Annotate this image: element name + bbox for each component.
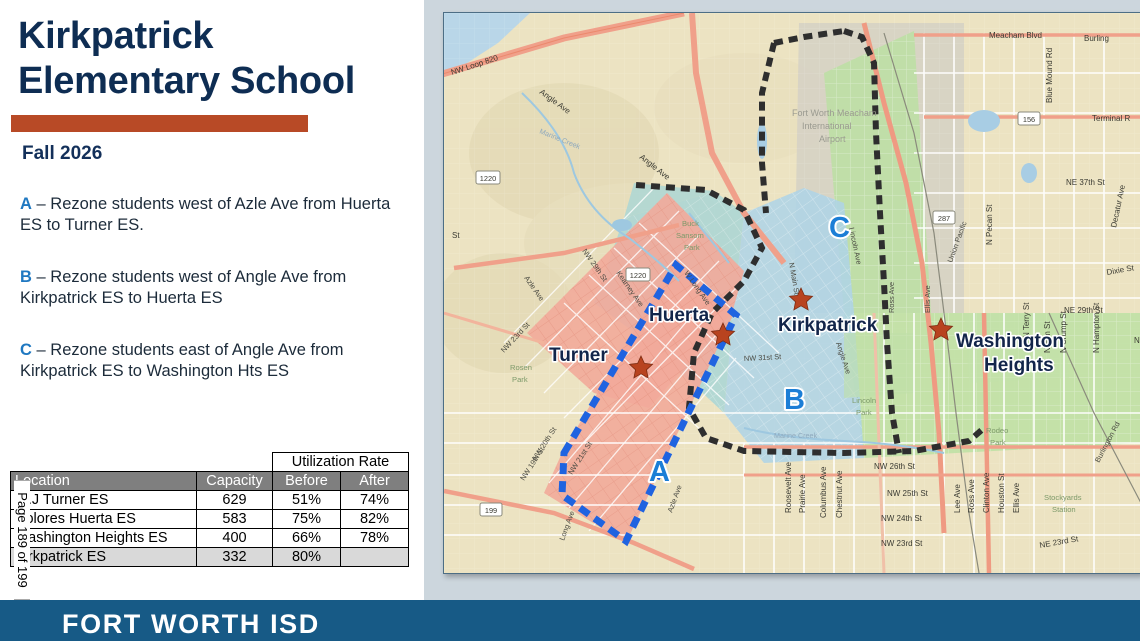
street-label-nw-25th: NW 25th St xyxy=(887,489,929,498)
svg-text:287: 287 xyxy=(938,214,950,223)
street-label-columbus-ave: Columbus Ave xyxy=(819,466,828,518)
school-label-huerta: Huerta xyxy=(649,305,710,326)
place-label-lincoln-park-l1: Lincoln xyxy=(852,396,876,405)
cell-capacity: 332 xyxy=(197,548,273,567)
table-row: W.J Turner ES 629 51% 74% xyxy=(11,491,409,510)
school-label-kirkpatrick: Kirkpatrick xyxy=(778,315,878,336)
bullet-item-a: A – Rezone students west of Azle Ave fro… xyxy=(20,194,408,236)
blank-cell xyxy=(11,453,197,472)
zone-marker-c: C xyxy=(829,212,850,244)
table-group-header-row: Utilization Rate xyxy=(11,453,409,472)
table-row: Dolores Huerta ES 583 75% 82% xyxy=(11,510,409,529)
place-label-rosen-park-l1: Rosen xyxy=(510,363,532,372)
cell-before: 75% xyxy=(273,510,341,529)
column-header-after: After xyxy=(341,472,409,491)
rezoning-map[interactable]: NW Loop 820 Angle Ave Marine Creek Angle… xyxy=(443,12,1140,574)
column-header-before: Before xyxy=(273,472,341,491)
street-label-nw-24th: NW 24th St xyxy=(881,514,923,523)
slide-subtitle: Fall 2026 xyxy=(22,143,102,165)
street-label-chestnut-ave: Chestnut Ave xyxy=(835,470,844,518)
place-label-buck-sansom-l1: Buck xyxy=(682,219,699,228)
utilization-rate-group-header: Utilization Rate xyxy=(273,453,409,472)
cell-before: 66% xyxy=(273,529,341,548)
cell-before: 80% xyxy=(273,548,341,567)
street-label-ross-ave-n: Ross Ave xyxy=(887,282,896,313)
place-label-stockyards-l2: Station xyxy=(1052,505,1076,514)
page-title: Kirkpatrick Elementary School xyxy=(18,14,408,104)
school-label-heights: Heights xyxy=(984,355,1054,376)
bullet-letter-b: B xyxy=(20,268,32,286)
bullet-letter-a: A xyxy=(20,195,32,213)
creek-label-marine-creek-2: Marine Creek xyxy=(774,431,818,440)
street-label-ellis-ave: Ellis Ave xyxy=(1012,482,1021,513)
map-layers: NW Loop 820 Angle Ave Marine Creek Angle… xyxy=(444,13,1140,573)
street-label-houston-st: Houston St xyxy=(997,473,1006,513)
school-label-washington: Washington xyxy=(956,331,1064,352)
street-label-burlington: Burling xyxy=(1084,34,1109,43)
pond xyxy=(1021,163,1037,183)
cell-after: 82% xyxy=(341,510,409,529)
cell-after xyxy=(341,548,409,567)
utilization-table: Utilization Rate Location Capacity Befor… xyxy=(10,452,409,567)
cell-before: 51% xyxy=(273,491,341,510)
street-label-ne-east: NE xyxy=(1134,336,1140,345)
street-label-lee-ave: Lee Ave xyxy=(953,484,962,513)
street-label-ne-37th: NE 37th St xyxy=(1066,178,1105,187)
cell-capacity: 629 xyxy=(197,491,273,510)
svg-text:199: 199 xyxy=(485,506,497,515)
street-label-nw-23rd-2: NW 23rd St xyxy=(881,539,923,548)
street-label-clinton-ave: Clinton Ave xyxy=(982,472,991,513)
route-shield-156: 156 xyxy=(1018,112,1040,125)
route-shield-1220-mid: 1220 xyxy=(626,268,650,281)
route-shield-1220-north: 1220 xyxy=(476,171,500,184)
place-label-airport-l2: International xyxy=(802,121,852,131)
bullet-dash-c: – xyxy=(32,341,50,359)
cell-capacity: 400 xyxy=(197,529,273,548)
svg-text:1220: 1220 xyxy=(630,271,646,280)
route-shield-287: 287 xyxy=(933,211,955,224)
table-header-row: Location Capacity Before After xyxy=(11,472,409,491)
street-label-prairie-ave: Prairie Ave xyxy=(798,474,807,513)
cell-after: 74% xyxy=(341,491,409,510)
column-header-capacity: Capacity xyxy=(197,472,273,491)
footer-brand-label: FORT WORTH ISD xyxy=(62,609,320,640)
place-label-rodeo-park-l2: Park xyxy=(990,438,1006,447)
table-row: Washington Heights ES 400 66% 78% xyxy=(11,529,409,548)
street-label-n-pecan-st: N Pecan St xyxy=(985,204,994,245)
street-label-meacham-blvd: Meacham Blvd xyxy=(989,31,1042,40)
bullet-letter-c: C xyxy=(20,341,32,359)
blank-cell xyxy=(197,453,273,472)
street-label-ross-ave: Ross Ave xyxy=(967,479,976,513)
bullet-dash-a: – xyxy=(32,195,50,213)
slide-left-panel: Kirkpatrick Elementary School Fall 2026 … xyxy=(0,0,424,600)
bullet-item-b: B – Rezone students west of Angle Ave fr… xyxy=(20,267,408,309)
street-label-nw-26th: NW 26th St xyxy=(874,462,916,471)
zone-marker-a: A xyxy=(649,456,670,488)
place-label-buck-sansom-l2: Sansom xyxy=(676,231,704,240)
map-panel: NW Loop 820 Angle Ave Marine Creek Angle… xyxy=(424,0,1140,600)
svg-text:156: 156 xyxy=(1023,115,1035,124)
school-label-turner: Turner xyxy=(549,345,608,366)
cell-capacity: 583 xyxy=(197,510,273,529)
pond xyxy=(968,110,1000,132)
place-label-rodeo-park-l1: Rodeo xyxy=(986,426,1008,435)
cell-location: Kirkpatrick ES xyxy=(11,548,197,567)
page-number-indicator: Page 189 of 199 xyxy=(14,480,30,600)
svg-text:1220: 1220 xyxy=(480,174,496,183)
pond xyxy=(612,219,632,231)
place-label-buck-sansom-l3: Park xyxy=(684,243,700,252)
route-shield-199: 199 xyxy=(480,503,502,516)
place-label-airport-l3: Airport xyxy=(819,134,846,144)
column-header-location: Location xyxy=(11,472,197,491)
place-label-lincoln-park-l2: Park xyxy=(856,408,872,417)
bullet-text-a: Rezone students west of Azle Ave from Hu… xyxy=(20,195,390,234)
page-title-line2: Elementary School xyxy=(18,59,408,104)
bullet-text-b: Rezone students west of Angle Ave from K… xyxy=(20,268,346,307)
bullet-text-c: Rezone students east of Angle Ave from K… xyxy=(20,341,344,380)
page-title-line1: Kirkpatrick xyxy=(18,14,408,59)
street-label-edge-st: St xyxy=(452,231,460,240)
table-row: Kirkpatrick ES 332 80% xyxy=(11,548,409,567)
title-underline-rule xyxy=(11,115,308,132)
street-label-roosevelt-ave: Roosevelt Ave xyxy=(784,461,793,513)
place-label-stockyards-l1: Stockyards xyxy=(1044,493,1082,502)
street-label-n-hampton-st: N Hampton St xyxy=(1092,302,1101,353)
street-label-ellis-ave-n: Ellis Ave xyxy=(923,285,932,313)
zone-marker-b: B xyxy=(784,384,805,416)
bullet-item-c: C – Rezone students east of Angle Ave fr… xyxy=(20,340,408,382)
cell-after: 78% xyxy=(341,529,409,548)
cell-location: W.J Turner ES xyxy=(11,491,197,510)
map-canvas[interactable]: NW Loop 820 Angle Ave Marine Creek Angle… xyxy=(444,13,1140,573)
place-label-rosen-park-l2: Park xyxy=(512,375,528,384)
street-label-terminal-rd: Terminal R xyxy=(1092,114,1130,123)
bullet-dash-b: – xyxy=(32,268,50,286)
place-label-airport-l1: Fort Worth Meacham xyxy=(792,108,876,118)
cell-location: Washington Heights ES xyxy=(11,529,197,548)
street-label-blue-mound-rd: Blue Mound Rd xyxy=(1045,48,1054,103)
cell-location: Dolores Huerta ES xyxy=(11,510,197,529)
